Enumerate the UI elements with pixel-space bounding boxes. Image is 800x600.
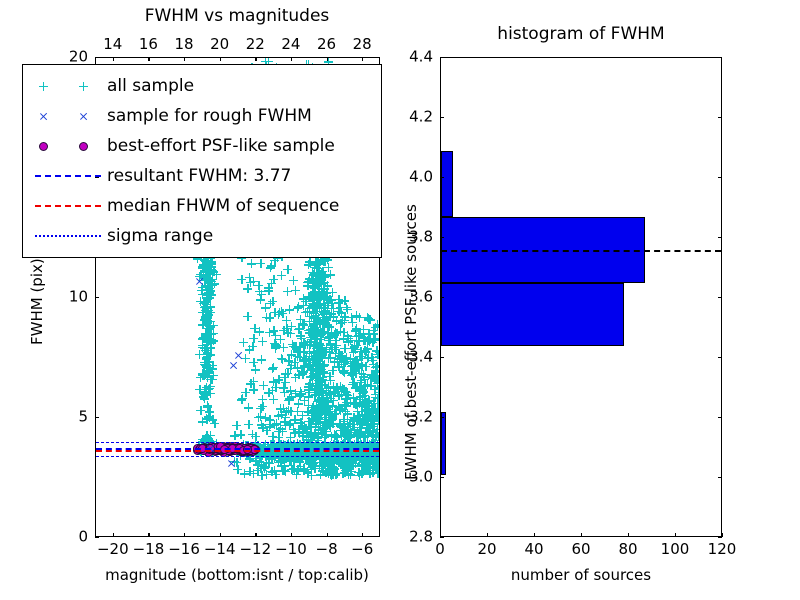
legend-marker-x (31, 104, 107, 128)
scatter-point-all-sample (207, 338, 216, 347)
scatter-point-all-sample (286, 329, 295, 338)
scatter-point-all-sample (306, 422, 315, 431)
scatter-point-all-sample (291, 415, 300, 424)
scatter-point-all-sample (205, 384, 214, 393)
scatter-point-all-sample (311, 366, 320, 375)
scatter-point-all-sample (369, 419, 378, 428)
scatter-point-all-sample (241, 388, 250, 397)
scatter-point-all-sample (202, 414, 211, 423)
scatter-point-all-sample (309, 319, 318, 328)
scatter-point-all-sample (334, 307, 343, 316)
scatter-point-all-sample (303, 363, 312, 372)
scatter-point-all-sample (328, 366, 337, 375)
scatter-point-all-sample (307, 406, 316, 415)
scatter-point-all-sample (293, 454, 302, 463)
scatter-point-all-sample (312, 365, 321, 374)
scatter-point-all-sample (328, 467, 337, 476)
scatter-point-all-sample (318, 461, 327, 470)
scatter-point-all-sample (304, 459, 313, 468)
scatter-point-all-sample (355, 427, 364, 436)
scatter-point-all-sample (314, 284, 323, 293)
scatter-point-all-sample (312, 370, 321, 379)
scatter-point-all-sample (308, 299, 317, 308)
scatter-point-all-sample (272, 419, 281, 428)
scatter-point-all-sample (300, 396, 309, 405)
scatter-point-all-sample (347, 430, 356, 439)
scatter-point-all-sample (304, 292, 313, 301)
scatter-point-all-sample (323, 281, 332, 290)
scatter-point-all-sample (300, 355, 309, 364)
scatter-point-all-sample (366, 315, 375, 324)
legend-item-label: median FHWM of sequence (107, 196, 339, 216)
scatter-point-all-sample (255, 287, 264, 296)
scatter-point-all-sample (204, 306, 213, 315)
scatter-point-all-sample (320, 257, 329, 266)
scatter-point-all-sample (343, 422, 352, 431)
scatter-point-all-sample (200, 360, 209, 369)
scatter-point-all-sample (244, 420, 253, 429)
scatter-point-all-sample (333, 433, 342, 442)
scatter-point-all-sample (333, 469, 342, 478)
scatter-point-all-sample (312, 278, 321, 287)
scatter-point-all-sample (366, 421, 375, 430)
scatter-point-all-sample (309, 295, 318, 304)
scatter-point-all-sample (200, 344, 209, 353)
scatter-point-all-sample (203, 316, 212, 325)
scatter-point-all-sample (373, 321, 379, 330)
scatter-point-all-sample (276, 450, 285, 459)
scatter-point-all-sample (357, 453, 366, 462)
scatter-point-all-sample (340, 400, 349, 409)
scatter-point-all-sample (348, 458, 357, 467)
scatter-point-all-sample (209, 371, 218, 380)
scatter-point-all-sample (339, 367, 348, 376)
scatter-point-all-sample (326, 388, 335, 397)
right-xtick (628, 533, 629, 537)
scatter-point-all-sample (313, 346, 322, 355)
scatter-point-all-sample (266, 299, 275, 308)
scatter-point-all-sample (295, 458, 304, 467)
scatter-point-all-sample (357, 401, 366, 410)
scatter-point-all-sample (342, 388, 351, 397)
scatter-point-all-sample (308, 277, 317, 286)
scatter-point-all-sample (322, 421, 331, 430)
scatter-point-all-sample (311, 334, 320, 343)
scatter-point-all-sample (346, 398, 355, 407)
scatter-point-all-sample (307, 465, 316, 474)
scatter-point-all-sample (269, 326, 278, 335)
left-ytick-minor (95, 177, 99, 178)
scatter-point-all-sample (316, 349, 325, 358)
scatter-point-all-sample (201, 315, 210, 324)
scatter-point-all-sample (261, 413, 270, 422)
scatter-point-all-sample (343, 331, 352, 340)
scatter-point-all-sample (335, 458, 344, 467)
scatter-point-all-sample (339, 356, 348, 365)
scatter-point-all-sample (372, 362, 379, 371)
scatter-point-all-sample (204, 366, 213, 375)
scatter-point-all-sample (256, 404, 265, 413)
scatter-point-all-sample (262, 313, 271, 322)
scatter-point-all-sample (363, 431, 372, 440)
scatter-point-all-sample (308, 283, 317, 292)
scatter-point-all-sample (315, 339, 324, 348)
scatter-point-all-sample (333, 454, 342, 463)
scatter-point-all-sample (208, 281, 217, 290)
scatter-point-all-sample (294, 370, 303, 379)
scatter-point-all-sample (364, 336, 373, 345)
scatter-point-all-sample (320, 360, 329, 369)
scatter-point-all-sample (281, 369, 290, 378)
scatter-point-all-sample (200, 358, 209, 367)
scatter-point-all-sample (332, 432, 341, 441)
scatter-point-all-sample (342, 390, 351, 399)
scatter-point-all-sample (325, 322, 334, 331)
scatter-point-all-sample (326, 339, 335, 348)
scatter-point-all-sample (298, 319, 307, 328)
scatter-point-all-sample (316, 276, 325, 285)
scatter-point-all-sample (317, 328, 326, 337)
scatter-point-all-sample (289, 276, 298, 285)
scatter-point-all-sample (317, 464, 326, 473)
scatter-point-all-sample (331, 349, 340, 358)
scatter-point-all-sample (364, 462, 373, 471)
scatter-point-all-sample (208, 375, 217, 384)
scatter-point-all-sample (322, 427, 331, 436)
scatter-point-all-sample (320, 433, 329, 442)
scatter-point-all-sample (254, 413, 263, 422)
scatter-point-all-sample (257, 471, 266, 480)
scatter-point-all-sample (375, 352, 379, 361)
scatter-point-all-sample (204, 282, 213, 291)
scatter-point-all-sample (330, 464, 339, 473)
scatter-point-all-sample (303, 340, 312, 349)
scatter-point-all-sample (201, 276, 210, 285)
scatter-point-all-sample (291, 389, 300, 398)
scatter-point-all-sample (318, 353, 327, 362)
scatter-point-all-sample (303, 429, 312, 438)
scatter-point-all-sample (336, 459, 345, 468)
scatter-point-all-sample (277, 354, 286, 363)
scatter-point-all-sample (322, 288, 331, 297)
scatter-point-all-sample (362, 420, 371, 429)
scatter-point-all-sample (369, 416, 378, 425)
scatter-point-all-sample (201, 313, 210, 322)
scatter-point-all-sample (294, 399, 303, 408)
scatter-point-all-sample (330, 431, 339, 440)
scatter-point-all-sample (315, 405, 324, 414)
right-ytick-right (718, 537, 722, 538)
legend-item: median FHWM of sequence (31, 191, 371, 221)
scatter-point-all-sample (324, 459, 333, 468)
scatter-point-all-sample (317, 389, 326, 398)
scatter-point-all-sample (316, 387, 325, 396)
scatter-point-all-sample (295, 391, 304, 400)
right-xtick-label: 100 (661, 542, 690, 557)
scatter-point-all-sample (369, 360, 378, 369)
scatter-point-all-sample (267, 279, 276, 288)
scatter-point-all-sample (270, 308, 279, 317)
scatter-point-all-sample (354, 364, 363, 373)
scatter-point-all-sample (278, 355, 287, 364)
scatter-point-all-sample (326, 458, 335, 467)
scatter-point-all-sample (353, 417, 362, 426)
scatter-point-all-sample (320, 380, 329, 389)
scatter-point-all-sample (316, 335, 325, 344)
scatter-point-all-sample (340, 366, 349, 375)
scatter-point-all-sample (316, 426, 325, 435)
scatter-point-all-sample (315, 391, 324, 400)
left-ytick (95, 417, 99, 418)
scatter-point-all-sample (374, 375, 379, 384)
scatter-point-all-sample (355, 313, 364, 322)
histogram-bar (441, 412, 446, 475)
scatter-point-all-sample (357, 407, 366, 416)
scatter-point-all-sample (339, 457, 348, 466)
scatter-point-all-sample (358, 385, 367, 394)
histogram-bar (441, 151, 453, 217)
scatter-point-all-sample (292, 470, 301, 479)
left-xtick-bottom (255, 533, 256, 537)
scatter-point-all-sample (309, 313, 318, 322)
scatter-point-all-sample (313, 295, 322, 304)
scatter-point-all-sample (279, 383, 288, 392)
scatter-point-all-sample (306, 325, 315, 334)
scatter-point-all-sample (314, 299, 323, 308)
scatter-point-all-sample (343, 431, 352, 440)
scatter-point-all-sample (359, 416, 368, 425)
scatter-point-all-sample (338, 469, 347, 478)
scatter-point-all-sample (265, 328, 274, 337)
left-ytick-label: 5 (78, 410, 88, 425)
scatter-point-all-sample (360, 381, 369, 390)
scatter-point-all-sample (315, 462, 324, 471)
scatter-point-all-sample (205, 288, 214, 297)
scatter-point-all-sample (373, 399, 379, 408)
scatter-point-all-sample (203, 401, 212, 410)
scatter-point-all-sample (258, 337, 267, 346)
scatter-point-all-sample (317, 343, 326, 352)
scatter-point-all-sample (338, 458, 347, 467)
scatter-point-all-sample (331, 470, 340, 479)
left-xtick-label-top: 26 (317, 37, 336, 52)
scatter-point-all-sample (200, 303, 209, 312)
scatter-point-all-sample (361, 451, 370, 460)
left-ytick (95, 297, 99, 298)
scatter-point-all-sample (359, 370, 368, 379)
legend-item-label: resultant FWHM: 3.77 (107, 166, 291, 186)
right-plot-canvas (441, 58, 721, 536)
scatter-point-all-sample (364, 413, 373, 422)
scatter-point-all-sample (312, 314, 321, 323)
scatter-point-all-sample (368, 426, 377, 435)
scatter-point-all-sample (323, 402, 332, 411)
scatter-point-all-sample (323, 402, 332, 411)
scatter-point-all-sample (286, 407, 295, 416)
scatter-point-all-sample (265, 313, 274, 322)
scatter-point-all-sample (339, 451, 348, 460)
scatter-point-all-sample (304, 382, 313, 391)
scatter-point-all-sample (296, 387, 305, 396)
scatter-point-all-sample (240, 469, 249, 478)
scatter-point-all-sample (205, 265, 214, 274)
scatter-point-all-sample (352, 324, 361, 333)
scatter-point-all-sample (312, 371, 321, 380)
scatter-point-all-sample (301, 424, 310, 433)
scatter-point-all-sample (346, 470, 355, 479)
scatter-point-all-sample (266, 451, 275, 460)
scatter-point-all-sample (323, 328, 332, 337)
scatter-point-all-sample (326, 353, 335, 362)
scatter-point-all-sample (287, 361, 296, 370)
scatter-point-all-sample (309, 279, 318, 288)
scatter-point-all-sample (364, 417, 373, 426)
scatter-point-all-sample (340, 312, 349, 321)
scatter-point-all-sample (202, 431, 211, 440)
scatter-point-all-sample (326, 470, 335, 479)
scatter-point-all-sample (204, 438, 213, 447)
scatter-point-all-sample (346, 354, 355, 363)
scatter-point-all-sample (200, 387, 209, 396)
scatter-point-all-sample (309, 348, 318, 357)
scatter-point-all-sample (203, 289, 212, 298)
scatter-point-all-sample (319, 388, 328, 397)
scatter-point-all-sample (281, 454, 290, 463)
scatter-point-all-sample (317, 365, 326, 374)
scatter-point-all-sample (319, 367, 328, 376)
scatter-point-all-sample (316, 363, 325, 372)
scatter-point-all-sample (206, 317, 215, 326)
scatter-point-all-sample (349, 393, 358, 402)
scatter-point-all-sample (325, 372, 334, 381)
scatter-point-all-sample (361, 427, 370, 436)
scatter-point-all-sample (265, 459, 274, 468)
scatter-point-all-sample (210, 279, 219, 288)
scatter-point-all-sample (352, 431, 361, 440)
scatter-point-all-sample (300, 423, 309, 432)
scatter-point-all-sample (305, 258, 314, 267)
scatter-point-all-sample (304, 392, 313, 401)
scatter-point-all-sample (314, 428, 323, 437)
scatter-point-all-sample (276, 424, 285, 433)
dashed-line-icon (35, 175, 101, 177)
scatter-point-all-sample (337, 431, 346, 440)
scatter-point-all-sample (344, 438, 353, 447)
left-ytick-label: 20 (69, 50, 88, 65)
scatter-point-all-sample (206, 322, 215, 331)
scatter-point-all-sample (316, 326, 325, 335)
scatter-point-all-sample (365, 337, 374, 346)
scatter-point-all-sample (355, 454, 364, 463)
scatter-point-all-sample (314, 383, 323, 392)
scatter-point-all-sample (372, 408, 379, 417)
scatter-point-all-sample (245, 450, 254, 459)
scatter-point-all-sample (259, 381, 268, 390)
scatter-point-all-sample (373, 425, 379, 434)
scatter-point-all-sample (310, 295, 319, 304)
scatter-point-all-sample (309, 321, 318, 330)
scatter-point-all-sample (281, 421, 290, 430)
scatter-point-all-sample (320, 403, 329, 412)
scatter-point-all-sample (318, 289, 327, 298)
scatter-point-all-sample (250, 324, 259, 333)
scatter-point-all-sample (311, 461, 320, 470)
scatter-point-all-sample (289, 453, 298, 462)
scatter-point-all-sample (319, 361, 328, 370)
scatter-point-all-sample (316, 295, 325, 304)
scatter-point-all-sample (275, 308, 284, 317)
scatter-point-all-sample (297, 389, 306, 398)
scatter-point-all-sample (325, 407, 334, 416)
scatter-point-all-sample (329, 465, 338, 474)
scatter-point-all-sample (375, 384, 379, 393)
dashed-line-icon (35, 205, 101, 207)
scatter-point-all-sample (309, 321, 318, 330)
scatter-point-all-sample (375, 361, 379, 370)
scatter-point-all-sample (203, 274, 212, 283)
scatter-point-all-sample (317, 428, 326, 437)
scatter-point-all-sample (373, 411, 379, 420)
scatter-point-all-sample (304, 356, 313, 365)
scatter-point-all-sample (313, 279, 322, 288)
scatter-point-all-sample (346, 368, 355, 377)
scatter-point-all-sample (359, 325, 368, 334)
scatter-point-all-sample (316, 397, 325, 406)
scatter-point-all-sample (302, 354, 311, 363)
scatter-point-all-sample (201, 360, 210, 369)
scatter-point-all-sample (205, 269, 214, 278)
scatter-point-all-sample (291, 286, 300, 295)
scatter-point-all-sample (366, 423, 375, 432)
scatter-point-all-sample (316, 402, 325, 411)
scatter-point-all-sample (352, 415, 361, 424)
left-xtick-bottom (184, 533, 185, 537)
scatter-point-all-sample (321, 348, 330, 357)
scatter-point-all-sample (245, 273, 254, 282)
scatter-point-all-sample (276, 335, 285, 344)
scatter-point-all-sample (371, 334, 379, 343)
scatter-point-all-sample (309, 459, 318, 468)
scatter-point-all-sample (372, 371, 379, 380)
scatter-point-all-sample (206, 343, 215, 352)
scatter-point-all-sample (312, 364, 321, 373)
scatter-point-all-sample (280, 373, 289, 382)
scatter-point-all-sample (245, 345, 254, 354)
scatter-point-all-sample (374, 385, 379, 394)
scatter-point-all-sample (274, 411, 283, 420)
scatter-point-all-sample (324, 382, 333, 391)
scatter-point-all-sample (342, 465, 351, 474)
scatter-point-all-sample (364, 417, 373, 426)
legend-item: sigma range (31, 221, 371, 251)
scatter-point-all-sample (257, 460, 266, 469)
scatter-point-all-sample (338, 461, 347, 470)
scatter-point-all-sample (332, 329, 341, 338)
scatter-point-all-sample (202, 388, 211, 397)
scatter-point-all-sample (297, 367, 306, 376)
scatter-point-all-sample (262, 470, 271, 479)
scatter-point-all-sample (337, 390, 346, 399)
scatter-point-all-sample (350, 364, 359, 373)
right-ytick-right (718, 117, 722, 118)
scatter-point-all-sample (278, 427, 287, 436)
scatter-point-all-sample (324, 397, 333, 406)
scatter-point-all-sample (352, 311, 361, 320)
scatter-point-all-sample (314, 396, 323, 405)
scatter-point-all-sample (198, 283, 207, 292)
right-ytick (440, 357, 444, 358)
scatter-point-all-sample (336, 406, 345, 415)
